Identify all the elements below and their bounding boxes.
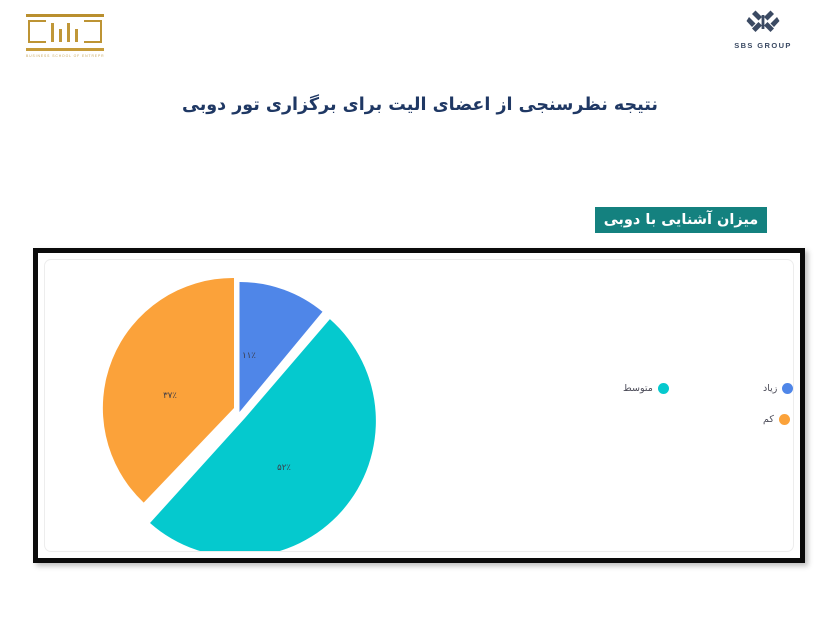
pie-label-motavasset: ۵۲٪ — [277, 463, 291, 473]
legend-label-kam: کم — [763, 414, 774, 425]
sbs-group-logo: SBS GROUP — [724, 8, 802, 50]
section-badge: میزان آشنایی با دوبی — [595, 207, 767, 233]
sbs-monogram-icon — [724, 8, 802, 38]
elite-logo-glyphs — [50, 23, 84, 42]
legend-swatch-kam — [779, 414, 790, 425]
legend-swatch-motavasset — [658, 383, 669, 394]
elite-logo: BUSINESS SCHOOL OF ENTREPRENEURSHIP — [22, 14, 114, 62]
pie-label-ziad: ۱۱٪ — [242, 351, 256, 361]
elite-logo-mark — [26, 14, 104, 51]
legend-item-kam[interactable]: کم — [763, 414, 790, 425]
slide-header: BUSINESS SCHOOL OF ENTREPRENEURSHIP SBS … — [0, 0, 840, 75]
pie-chart: ۱۱٪ ۵۲٪ ۳۷٪ — [97, 270, 379, 552]
legend-swatch-ziad — [782, 383, 793, 394]
sbs-group-wordmark: SBS GROUP — [724, 41, 802, 50]
legend-label-motavasset: متوسط — [623, 383, 653, 394]
chart-frame: ۱۱٪ ۵۲٪ ۳۷٪ متوسط زیاد کم — [33, 248, 805, 563]
legend-label-ziad: زیاد — [763, 383, 777, 394]
legend-item-motavasset[interactable]: متوسط — [623, 383, 669, 394]
legend-item-ziad[interactable]: زیاد — [763, 383, 793, 394]
pie-label-kam: ۳۷٪ — [163, 391, 177, 401]
elite-logo-tagline: BUSINESS SCHOOL OF ENTREPRENEURSHIP — [26, 54, 104, 58]
chart-canvas: ۱۱٪ ۵۲٪ ۳۷٪ متوسط زیاد کم — [44, 259, 794, 552]
page-title: نتیجه نظرسنجی از اعضای الیت برای برگزاری… — [0, 95, 840, 115]
chart-legend: متوسط زیاد کم — [585, 378, 794, 448]
